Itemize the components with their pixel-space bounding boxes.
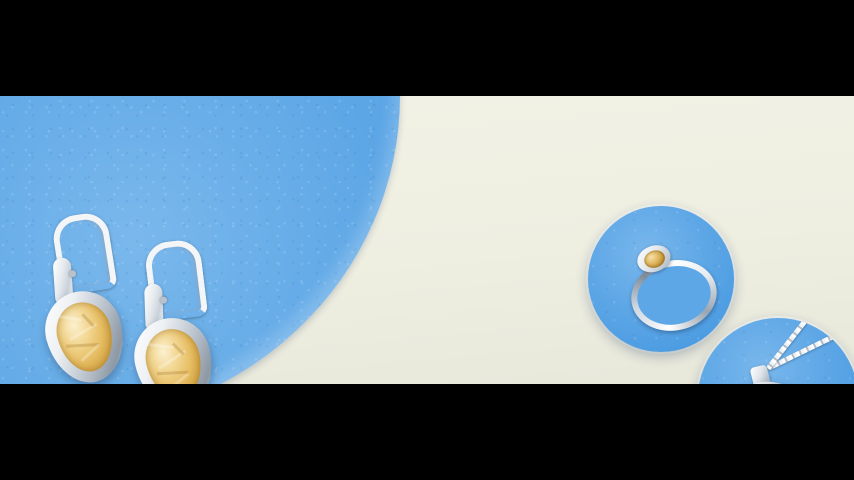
letterbox-top	[0, 0, 854, 96]
citrine-gem-pear	[50, 296, 120, 378]
citrine-pendant-photo	[698, 318, 854, 384]
letterbox-bottom	[0, 384, 854, 480]
citrine-gem-round	[642, 248, 668, 271]
banner-stage: Tracing the History of Citrine - Novembe…	[0, 0, 854, 480]
chain-strand-right	[767, 319, 854, 371]
gem-facets	[50, 296, 120, 378]
gem-facets	[140, 324, 208, 384]
banner-content-band: Tracing the History of Citrine - Novembe…	[0, 96, 854, 384]
earring-bezel	[127, 310, 222, 384]
necklace-chain	[760, 318, 854, 384]
earring-bezel	[37, 283, 134, 384]
citrine-gem-pear	[140, 324, 208, 384]
